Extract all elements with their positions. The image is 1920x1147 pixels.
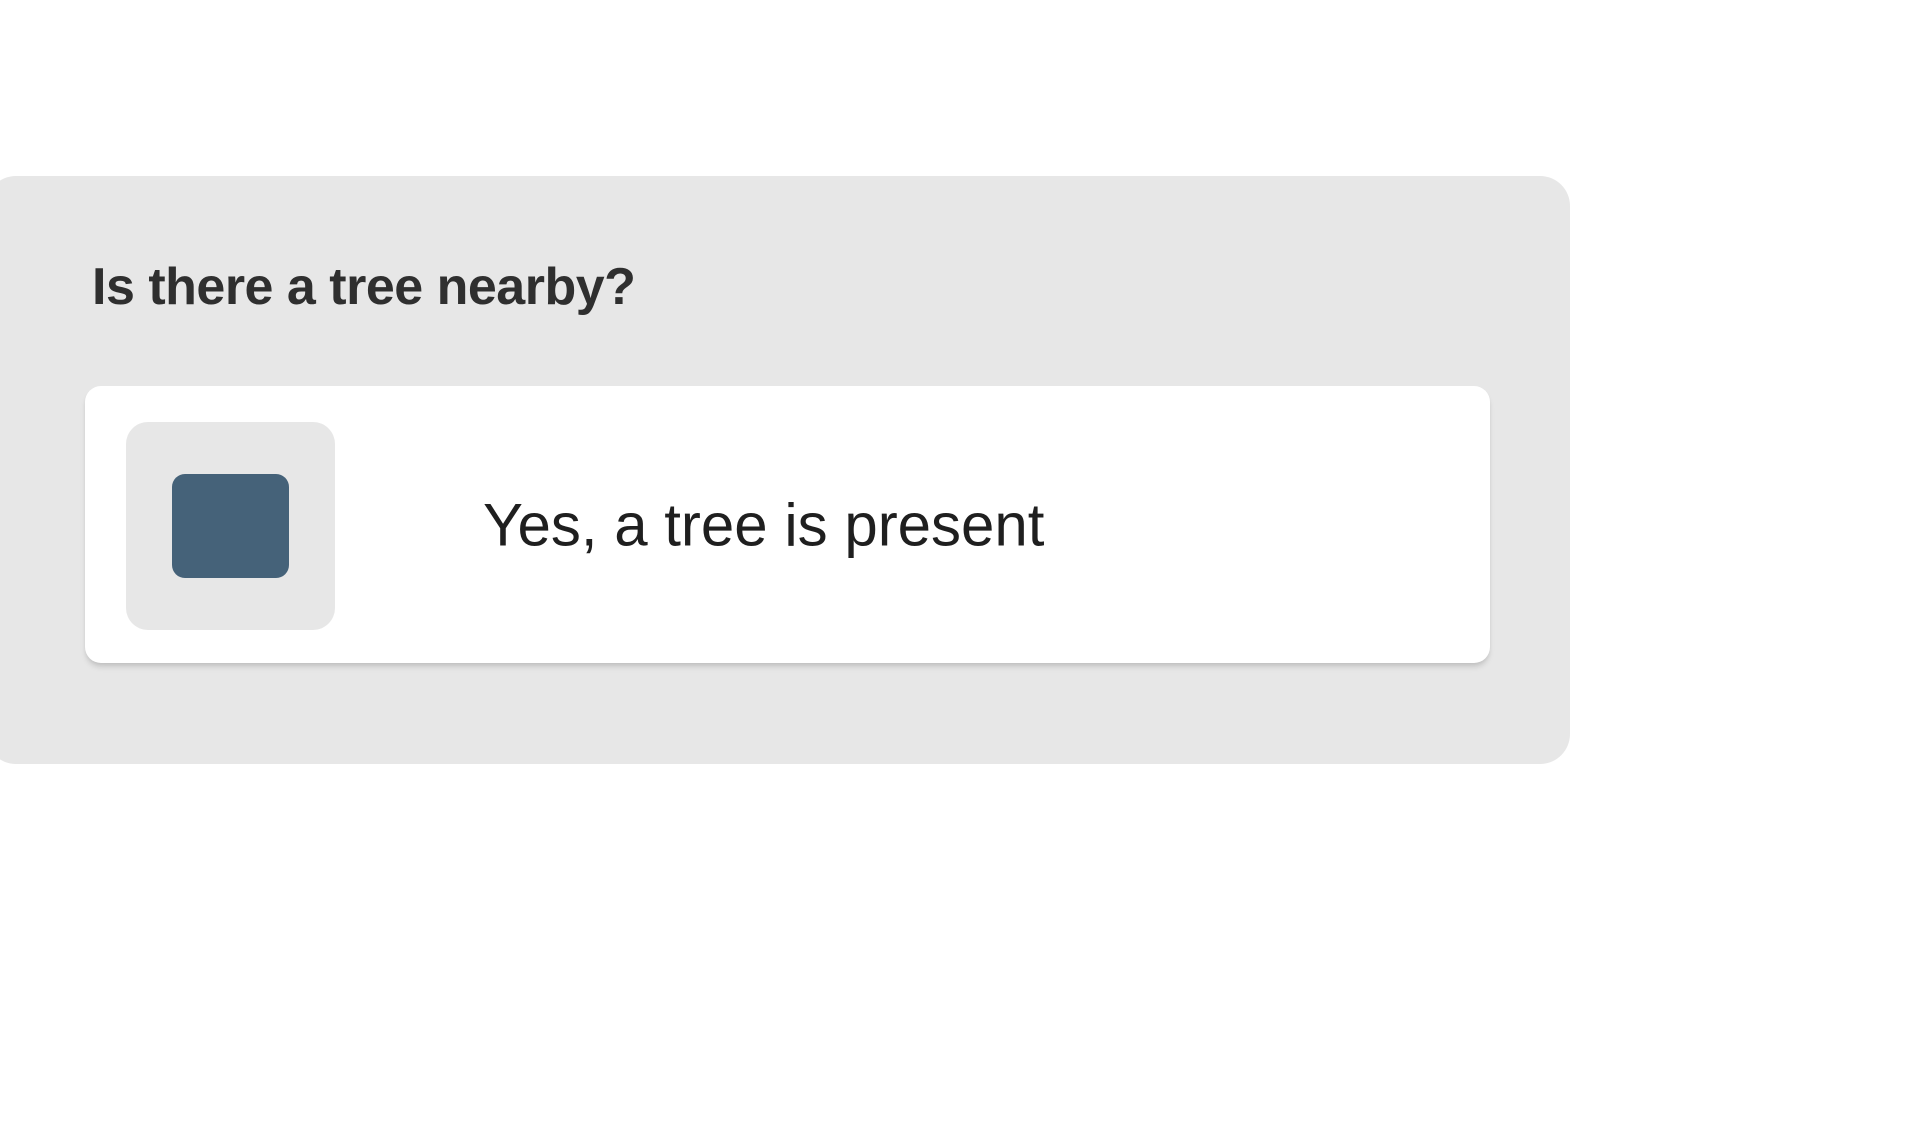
option-label: Yes, a tree is present [483, 490, 1044, 559]
options-list: Yes, a tree is present [85, 386, 1490, 663]
checkbox-tile[interactable] [126, 422, 335, 630]
checkbox-checked-icon[interactable] [172, 474, 289, 578]
option-row-yes-tree-present[interactable]: Yes, a tree is present [85, 386, 1490, 663]
page-title: Is there a tree nearby? [92, 256, 635, 318]
